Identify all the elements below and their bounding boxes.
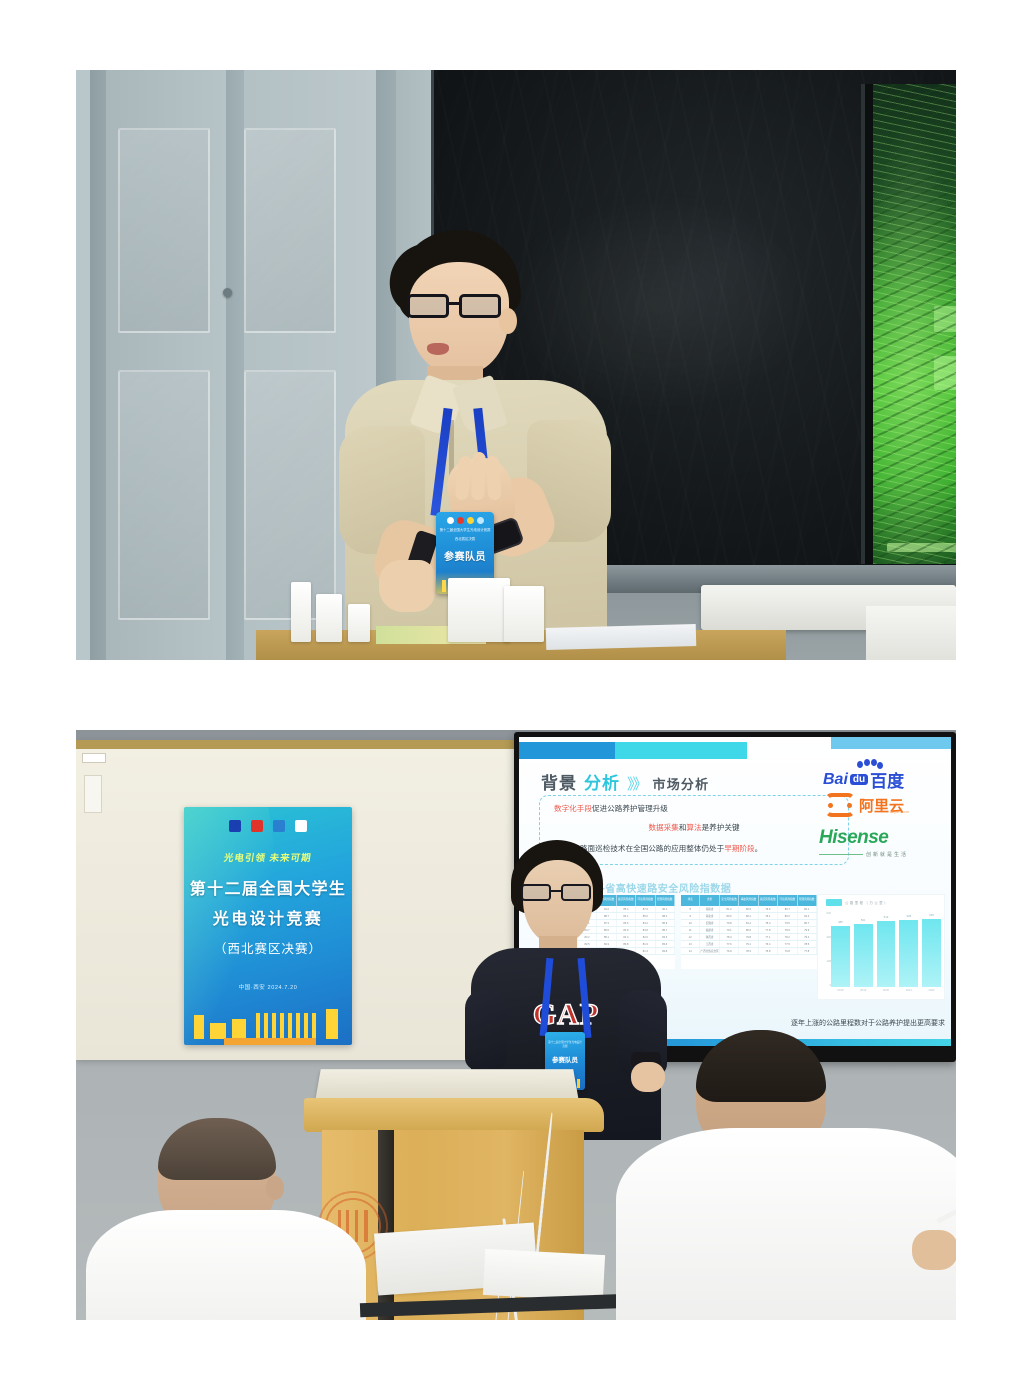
- poster-building-4: [326, 1009, 338, 1039]
- badge-logo-3-icon: [467, 517, 474, 524]
- chart-y-tick-396: 396: [820, 935, 831, 939]
- desk-box-2: [316, 594, 342, 642]
- paw-toe-2: [864, 759, 870, 766]
- lectern-top-surface: [315, 1069, 579, 1101]
- glasses-lens-right: [459, 294, 501, 318]
- table-cell-1: 湖北省: [700, 913, 719, 919]
- slide-accent-bar-2: [615, 742, 747, 759]
- chart-x-tick-2022: 2022: [922, 988, 941, 997]
- table-cell-0: 9: [681, 913, 700, 919]
- slide-accent-bar-3: [831, 737, 951, 749]
- highway-mileage-chart: 公路里程（万公里） 6003961980 485501519528535 201…: [817, 894, 945, 1000]
- door-knob: [223, 288, 232, 297]
- slide-title-part-3: 市场分析: [653, 774, 710, 793]
- aliyun-latin: aliyun.com: [890, 809, 909, 814]
- desk-paper-white: [546, 624, 697, 650]
- slide-top-bar: [519, 737, 951, 759]
- side-cabinet: [866, 606, 956, 660]
- table-header-cell-4: 路况风险指数: [759, 895, 778, 906]
- slide-bottom-note: 逐年上涨的公路里程数对于公路养护提出更高要求: [791, 1018, 945, 1028]
- table-cell-4: 75.8: [759, 948, 778, 954]
- judge-left-ear: [266, 1176, 284, 1200]
- table-header-cell-5: 环境风险指数: [778, 895, 797, 906]
- chart-bar-2021: 528: [899, 920, 918, 987]
- table-cell-5: 80.7: [778, 906, 797, 912]
- table-cell-0: 10: [681, 920, 700, 926]
- table-cell-1: 福建省: [700, 927, 719, 933]
- hisense-latin: Hisense: [819, 827, 908, 849]
- baidu-logo: Bai du 百度: [823, 767, 904, 792]
- badge-logo-1-icon: [447, 517, 454, 524]
- callout-line-2-highlight-a: 数据采集: [648, 823, 678, 832]
- table-cell-1: 广西壮族自治区: [700, 948, 719, 954]
- display-screen-green-slide: [861, 84, 956, 564]
- alibaba-cloud-logo: 阿里云 aliyun.com: [825, 793, 909, 817]
- table-header-cell-2: 安全风险指数: [720, 895, 739, 906]
- whiteboard-label-2: [84, 775, 102, 813]
- door-panel-top-right: [244, 128, 336, 333]
- poster-logo-3-icon: [273, 820, 285, 832]
- chart-bar-2018: 485: [831, 926, 850, 987]
- table-header-cell-3: 事故风险指数: [739, 895, 758, 906]
- chart-legend-label: 公路里程（万公里）: [845, 900, 889, 905]
- table-cell-4: 79.1: [759, 913, 778, 919]
- poster-footer: 中国·西安 2024.7.20: [239, 983, 298, 991]
- table-cell-3: 79.1: [739, 941, 758, 947]
- chart-x-tick-2018: 2018: [831, 988, 850, 997]
- callout-line-2-highlight-b: 算法: [686, 823, 701, 832]
- desk-box-5: [504, 586, 544, 642]
- callout-line-3-plain-b: 。: [755, 844, 763, 853]
- judge-left-hair: [158, 1118, 276, 1180]
- poster-building-3: [232, 1019, 246, 1039]
- baidu-chinese: 百度: [870, 767, 904, 792]
- chart-x-axis: 20182019202020212022: [831, 988, 941, 997]
- glasses-lens-left: [521, 884, 551, 901]
- poster-foot-band: [224, 1038, 316, 1045]
- judge-right-hand: [912, 1230, 956, 1270]
- finger-2: [471, 452, 486, 500]
- poster-colonnade: [256, 1013, 320, 1039]
- table-cell-6: 81.4: [798, 913, 817, 919]
- table-cell-3: 78.3: [739, 948, 758, 954]
- hisense-logo: Hisense 创新就是生活: [819, 827, 908, 858]
- table-cell-1: 陕西省: [700, 934, 719, 940]
- poster-logo-4-icon: [295, 820, 307, 832]
- chart-bar-2020: 519: [877, 921, 896, 987]
- chart-bar-2022: 535: [922, 919, 941, 987]
- table-header-cell-6: 管理风险指数: [798, 895, 817, 906]
- chart-bar-value: 501: [854, 918, 873, 922]
- table-cell-2: 80.6: [720, 913, 739, 919]
- door-panel-bottom-right: [244, 370, 336, 620]
- table-cell-0: 11: [681, 927, 700, 933]
- chart-x-tick-2019: 2019: [854, 988, 873, 997]
- partner-logos: Bai du 百度 阿里云 aliyun.com Hisense 创新就是生活: [817, 765, 947, 873]
- face: [523, 860, 593, 944]
- table-cell-3: 81.4: [739, 920, 758, 926]
- photo-speaker-at-blackboard: 第十二届全国大学生光电设计竞赛 西北赛区决赛 参赛队员: [76, 70, 956, 660]
- hand-holding-clicker: [379, 560, 435, 612]
- table-cell-5: 76.8: [778, 948, 797, 954]
- chart-x-tick-2020: 2020: [877, 988, 896, 997]
- poster-building-2: [210, 1023, 226, 1039]
- badge-subtitle-line-2: 西北赛区决赛: [439, 537, 491, 542]
- table-cell-0: 13: [681, 941, 700, 947]
- poster-title-line-1: 第十二届全国大学生: [190, 875, 347, 899]
- table-cell-6: 82.1: [798, 906, 817, 912]
- table-cell-6: 79.9: [798, 927, 817, 933]
- table-cell-1: 安徽省: [700, 920, 719, 926]
- table-body: 8湖南省81.282.979.680.782.19湖北省80.682.179.1…: [681, 906, 817, 955]
- chart-bar-value: 535: [922, 913, 941, 917]
- callout-line-1-highlight: 数字化手段: [554, 804, 592, 813]
- chart-y-tick-600: 600: [820, 911, 831, 915]
- door-panel-top-left: [118, 128, 210, 333]
- slide-title-part-1: 背景: [541, 769, 577, 794]
- badge-subtitle: 第十二届全国大学生光电设计竞赛: [548, 1040, 582, 1048]
- desk-document-2: [483, 1249, 605, 1301]
- chart-bar-value: 519: [877, 915, 896, 919]
- chart-y-axis: 6003961980: [820, 911, 831, 987]
- table-cell-2: 77.6: [720, 941, 739, 947]
- table-row: 9湖北省80.682.179.180.281.4: [681, 913, 817, 920]
- table-header-cell-0: 排名: [681, 895, 700, 906]
- audience-judge-left: [96, 1118, 356, 1320]
- glasses-icon: [405, 294, 511, 318]
- slide-chip-2: [934, 356, 956, 390]
- table-row: 11福建省79.180.677.878.979.9: [681, 927, 817, 934]
- chart-legend: 公路里程（万公里）: [826, 899, 889, 906]
- judge-right-shirt: [616, 1128, 956, 1320]
- table-cell-3: 82.9: [739, 906, 758, 912]
- risk-table-right: 排名省份安全风险指数事故风险指数路况风险指数环境风险指数管理风险指数 8湖南省8…: [681, 895, 817, 969]
- table-cell-0: 8: [681, 906, 700, 912]
- audience-judge-right: [636, 1030, 956, 1320]
- green-slide-image: [873, 84, 956, 564]
- glasses-bridge: [551, 890, 561, 892]
- chart-legend-swatch: [826, 899, 842, 906]
- callout-line-3-highlight: 早期阶段: [724, 844, 754, 853]
- mouth: [427, 343, 449, 355]
- judge-left-shirt: [86, 1210, 366, 1320]
- table-cell-4: 79.6: [759, 906, 778, 912]
- badge-logo-4-icon: [477, 517, 484, 524]
- poster-city-skyline: [184, 1003, 352, 1045]
- glasses-bridge: [449, 302, 461, 305]
- poster-slogan: 光电引领 未来可期: [223, 850, 313, 864]
- badge-role-text: 参赛队员: [552, 1054, 578, 1064]
- table-cell-6: 79.2: [798, 934, 817, 940]
- callout-line-2: 数据采集和算法是养护关键: [548, 823, 840, 833]
- glasses-icon: [521, 884, 597, 901]
- desk-box-3: [348, 604, 370, 642]
- glasses-lens-right: [561, 884, 591, 901]
- table-cell-6: 78.5: [798, 941, 817, 947]
- badge-logo-row: [447, 517, 484, 524]
- table-row: 12陕西省78.479.877.178.279.2: [681, 934, 817, 941]
- baidu-latin: Bai: [823, 771, 848, 789]
- callout-line-1-plain: 促进公路养护管理升级: [592, 804, 668, 813]
- table-cell-4: 77.8: [759, 927, 778, 933]
- arm-left: [465, 990, 507, 1070]
- whiteboard-label-1: [82, 753, 106, 763]
- poster-logo-1-icon: [229, 820, 241, 832]
- table-cell-2: 76.9: [720, 948, 739, 954]
- poster-subtitle: （西北赛区决赛）: [214, 938, 322, 957]
- table-cell-2: 78.4: [720, 934, 739, 940]
- door-panel-bottom-left: [118, 370, 210, 620]
- slide-title: 背景 分析 》》 市场分析: [541, 769, 709, 794]
- slide-accent-bar-1: [519, 742, 615, 759]
- tissue-box: [448, 578, 510, 642]
- table-cell-3: 79.8: [739, 934, 758, 940]
- table-cell-4: 78.3: [759, 920, 778, 926]
- chart-plot-area: 485501519528535: [831, 911, 941, 987]
- badge-logo-2-icon: [457, 517, 464, 524]
- hisense-chinese: 创新就是生活: [819, 851, 908, 858]
- poster-logo-2-icon: [251, 820, 263, 832]
- chart-bar-2019: 501: [854, 924, 873, 987]
- table-cell-2: 81.2: [720, 906, 739, 912]
- table-row: 13江西省77.679.176.477.578.5: [681, 941, 817, 948]
- table-header-cell-1: 省份: [700, 895, 719, 906]
- poster-title-line-2: 光电设计竞赛: [213, 905, 323, 929]
- table-header-row: 排名省份安全风险指数事故风险指数路况风险指数环境风险指数管理风险指数: [681, 895, 817, 906]
- table-row: 14广西壮族自治区76.978.375.876.877.8: [681, 948, 817, 955]
- competition-poster: 光电引领 未来可期 第十二届全国大学生 光电设计竞赛 （西北赛区决赛） 中国·西…: [184, 807, 352, 1045]
- whiteboard: 光电引领 未来可期 第十二届全国大学生 光电设计竞赛 （西北赛区决赛） 中国·西…: [76, 740, 516, 1060]
- judge-right-hair: [696, 1030, 826, 1102]
- callout-line-1: 数字化手段促进公路养护管理升级: [554, 804, 840, 814]
- table-cell-5: 80.2: [778, 913, 797, 919]
- desk-box-1: [291, 582, 311, 642]
- table-cell-5: 78.2: [778, 934, 797, 940]
- chart-y-tick-198: 198: [820, 959, 831, 963]
- table-row: 10安徽省79.881.478.379.580.7: [681, 920, 817, 927]
- poster-building-1: [194, 1015, 204, 1039]
- chart-x-tick-2021: 2021: [899, 988, 918, 997]
- table-cell-0: 14: [681, 948, 700, 954]
- table-cell-3: 82.1: [739, 913, 758, 919]
- table-cell-5: 79.5: [778, 920, 797, 926]
- glasses-lens-left: [407, 294, 449, 318]
- table-cell-5: 77.5: [778, 941, 797, 947]
- face: [409, 262, 509, 374]
- slide-chip-1: [934, 306, 956, 332]
- table-row: 8湖南省81.282.979.680.782.1: [681, 906, 817, 913]
- table-cell-1: 湖南省: [700, 906, 719, 912]
- poster-logo-row: [229, 820, 307, 832]
- table-cell-2: 79.1: [720, 927, 739, 933]
- hisense-tagline: 创新就是生活: [866, 852, 908, 858]
- table-cell-4: 77.1: [759, 934, 778, 940]
- slide-title-part-2: 分析: [584, 769, 620, 794]
- photo-speaker-at-lectern: 光电引领 未来可期 第十二届全国大学生 光电设计竞赛 （西北赛区决赛） 中国·西…: [76, 730, 956, 1320]
- callout-line-2-plain-b: 是养护关键: [702, 823, 740, 832]
- hisense-rule: [819, 854, 863, 855]
- table-cell-0: 12: [681, 934, 700, 940]
- table-cell-6: 77.8: [798, 948, 817, 954]
- table-cell-2: 79.8: [720, 920, 739, 926]
- table-cell-4: 76.4: [759, 941, 778, 947]
- chart-y-tick-0: 0: [820, 983, 831, 987]
- aliyun-mark-icon: [825, 793, 855, 817]
- badge-role-text: 参赛队员: [444, 548, 486, 563]
- table-cell-1: 江西省: [700, 941, 719, 947]
- table-cell-6: 80.7: [798, 920, 817, 926]
- table-cell-5: 78.9: [778, 927, 797, 933]
- badge-subtitle-line-1: 第十二届全国大学生光电设计竞赛: [439, 528, 491, 533]
- slide-bar: [887, 543, 956, 552]
- chart-bar-value: 485: [831, 920, 850, 924]
- document-page: 第十二届全国大学生光电设计竞赛 西北赛区决赛 参赛队员: [0, 0, 1024, 1389]
- baidu-badge: du: [850, 774, 868, 785]
- table-cell-3: 80.6: [739, 927, 758, 933]
- slide-title-arrow-icon: 》》: [627, 773, 646, 794]
- chart-bar-value: 528: [899, 914, 918, 918]
